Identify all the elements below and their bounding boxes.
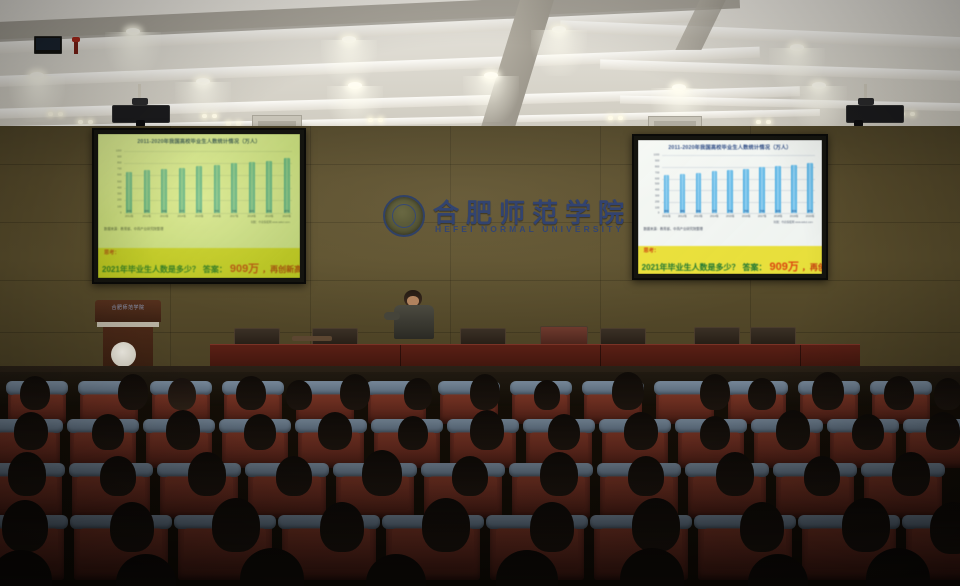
audience-person bbox=[166, 410, 200, 450]
x-tick-label: 2015年 bbox=[726, 214, 735, 218]
audience-person bbox=[740, 502, 784, 552]
audience-person bbox=[168, 378, 196, 410]
banner-answer-label: 答案： bbox=[742, 262, 766, 273]
x-tick-label: 2012年 bbox=[678, 214, 687, 218]
audience-person bbox=[110, 502, 154, 552]
audience-person bbox=[422, 498, 470, 552]
x-tick-label: 2014年 bbox=[177, 214, 187, 218]
audience-person bbox=[340, 374, 370, 410]
audience-person bbox=[892, 452, 930, 496]
slide-banner-left: 思考： 2021年毕业生人数是多少？ 答案： 909万 ，再创新高！ bbox=[98, 248, 300, 278]
audience-person bbox=[926, 412, 960, 450]
x-tick-label: 2011年 bbox=[662, 214, 671, 218]
banner-answer-label: 答案： bbox=[203, 264, 227, 275]
audience-person bbox=[470, 410, 504, 450]
x-tick-label: 2012年 bbox=[142, 214, 152, 218]
chart-source-note: 数据来源：教育部、中商产业研究院整理 bbox=[104, 226, 163, 231]
audience-person bbox=[318, 412, 352, 450]
audience-person bbox=[452, 456, 488, 496]
audience-person bbox=[2, 500, 48, 552]
audience-person bbox=[700, 374, 730, 410]
audience-person bbox=[286, 380, 312, 410]
banner-answer-value: 909万 bbox=[769, 258, 798, 274]
banner-think-label: 思考： bbox=[644, 247, 660, 254]
audience-person bbox=[212, 498, 260, 552]
chart-credit-note: 制图：中商情报网 www.askci.com bbox=[251, 220, 290, 224]
x-tick-label: 2020年 bbox=[805, 214, 814, 218]
x-axis-right: 2011年 2012年 2013年 2014年 2015年 2016年 2017… bbox=[662, 214, 815, 218]
audience-person bbox=[530, 502, 574, 552]
audience-person bbox=[118, 374, 148, 410]
slide-banner-right: 思考： 2021年毕业生人数是多少？ 答案： 909万 ，再创新高！ bbox=[638, 246, 822, 274]
x-axis-left: 2011年 2012年 2013年 2014年 2015年 2016年 2017… bbox=[124, 214, 292, 218]
banner-question: 2021年毕业生人数是多少？ bbox=[642, 262, 740, 273]
chart-credit-note: 制图：中商情报网 www.askci.com bbox=[774, 220, 813, 224]
x-tick-label: 2013年 bbox=[159, 214, 169, 218]
audience-person bbox=[244, 414, 276, 450]
table-microphone bbox=[74, 40, 78, 54]
audience-person bbox=[8, 452, 46, 496]
x-tick-label: 2018年 bbox=[247, 214, 257, 218]
x-tick-label: 2014年 bbox=[710, 214, 719, 218]
audience-person bbox=[320, 502, 364, 552]
bar-value: 874 bbox=[796, 210, 822, 213]
audience-person bbox=[632, 498, 680, 552]
chart-source-note: 数据来源：教育部、中商产业研究院整理 bbox=[644, 226, 703, 231]
y-axis-left: 0 100 200 300 400 500 600 700 800 900 10… bbox=[104, 151, 122, 213]
audience-seating bbox=[0, 372, 960, 586]
audience-person bbox=[842, 498, 890, 552]
audience-person bbox=[812, 372, 844, 410]
podium-label: 合肥师范学院 bbox=[95, 304, 161, 311]
presenter-laptop bbox=[34, 36, 62, 54]
university-emblem-icon bbox=[383, 195, 425, 237]
x-tick-label: 2016年 bbox=[212, 214, 222, 218]
x-tick-label: 2018年 bbox=[774, 214, 783, 218]
audience-person bbox=[100, 456, 136, 496]
audience-person bbox=[776, 410, 810, 450]
audience-person bbox=[612, 372, 644, 410]
audience-person bbox=[92, 414, 124, 450]
banner-tail: ，再创新高！ bbox=[262, 264, 300, 275]
y-axis-right: 0 100 200 300 400 500 600 700 800 900 10… bbox=[644, 155, 661, 213]
bar-series-right: 660 680 699 727 749 765 795 820 834 874 bbox=[662, 155, 815, 213]
stage-chair bbox=[540, 326, 588, 346]
audience-person bbox=[934, 378, 960, 410]
left-projection-screen: 2011-2020年我国高校毕业生人数统计情况（万人） 0 100 200 30… bbox=[92, 128, 306, 284]
audience-person bbox=[404, 378, 432, 410]
audience-person bbox=[748, 378, 776, 410]
presenter-person bbox=[392, 290, 438, 348]
audience-person bbox=[884, 376, 914, 410]
audience-person bbox=[628, 456, 664, 496]
audience-person bbox=[852, 414, 884, 450]
audience-person bbox=[362, 450, 402, 496]
x-tick-label: 2019年 bbox=[264, 214, 274, 218]
audience-person bbox=[470, 374, 500, 410]
x-tick-label: 2015年 bbox=[194, 214, 204, 218]
presenter-body bbox=[394, 305, 434, 339]
right-projection-screen: 2011-2020年我国高校毕业生人数统计情况（万人） 0 100 200 30… bbox=[632, 134, 828, 280]
banner-tail: ，再创新高！ bbox=[802, 262, 822, 273]
x-tick-label: 2013年 bbox=[694, 214, 703, 218]
audience-person bbox=[624, 412, 658, 450]
podium-seal-icon bbox=[111, 342, 136, 367]
audience-person bbox=[548, 414, 580, 450]
banner-answer-value: 909万 bbox=[230, 260, 259, 276]
lecture-hall-photo: 合肥师范学院 HEFEI NORMAL UNIVERSITY 2011-2020… bbox=[0, 0, 960, 586]
x-tick-label: 2017年 bbox=[758, 214, 767, 218]
x-tick-label: 2016年 bbox=[742, 214, 751, 218]
audience-person bbox=[700, 416, 730, 450]
slide-title-left: 2011-2020年我国高校毕业生人数统计情况（万人） bbox=[98, 138, 300, 145]
x-tick-label: 2019年 bbox=[790, 214, 799, 218]
audience-person bbox=[804, 456, 840, 496]
x-tick-label: 2017年 bbox=[229, 214, 239, 218]
x-tick-label: 2020年 bbox=[282, 214, 292, 218]
audience-person bbox=[14, 412, 48, 450]
audience-person bbox=[716, 452, 754, 496]
bar-value: 874 bbox=[272, 210, 300, 213]
audience-person bbox=[20, 376, 50, 410]
banner-question: 2021年毕业生人数是多少？ bbox=[102, 264, 200, 275]
audience-person bbox=[398, 416, 428, 450]
audience-person bbox=[188, 452, 226, 496]
x-tick-label: 2011年 bbox=[124, 214, 134, 218]
bar-series-left: 660 680 699 727 749 765 795 820 834 874 bbox=[124, 151, 292, 213]
banner-think-label: 思考： bbox=[104, 249, 120, 256]
audience-person bbox=[236, 376, 266, 410]
university-name-en: HEFEI NORMAL UNIVERSITY bbox=[435, 224, 624, 234]
slide-title-right: 2011-2020年我国高校毕业生人数统计情况（万人） bbox=[638, 144, 822, 151]
audience-person bbox=[276, 456, 312, 496]
audience-person bbox=[534, 380, 560, 410]
audience-person bbox=[540, 452, 578, 496]
university-wall-logo: 合肥师范学院 HEFEI NORMAL UNIVERSITY bbox=[383, 193, 583, 243]
